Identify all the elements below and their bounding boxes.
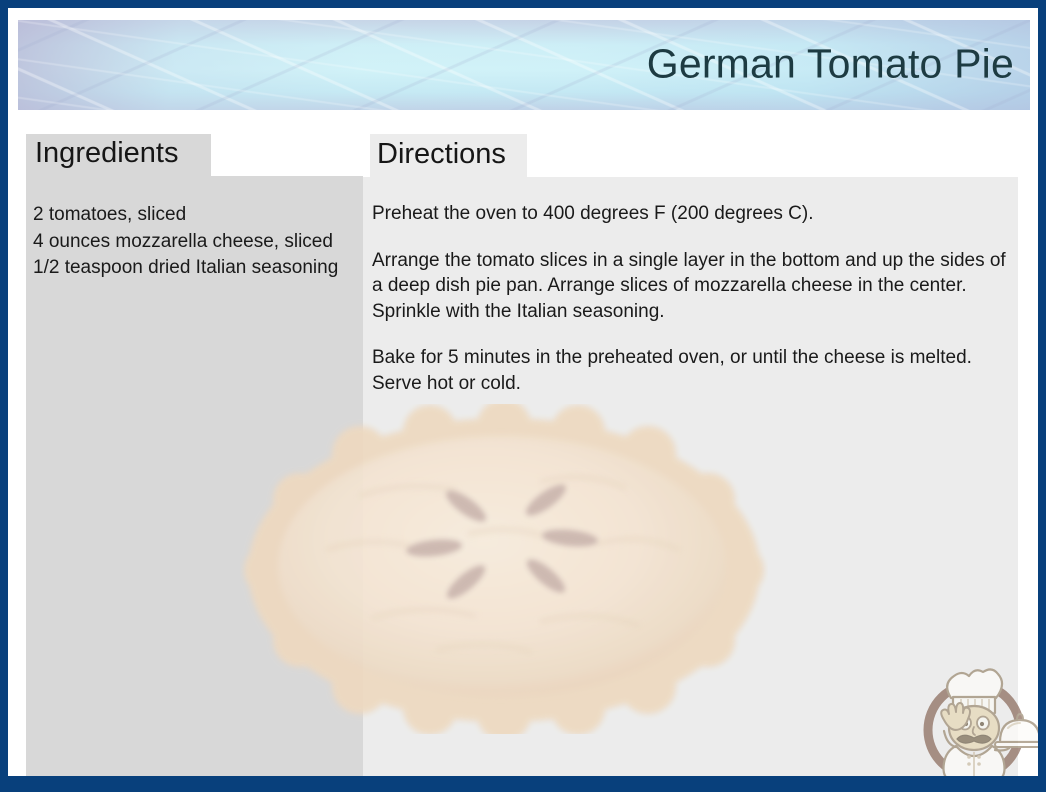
recipe-page: German Tomato Pie Ingredients 2 tomatoes… bbox=[8, 8, 1038, 776]
list-item: 2 tomatoes, sliced bbox=[33, 202, 353, 229]
header-banner: German Tomato Pie bbox=[18, 20, 1030, 110]
page-title: German Tomato Pie bbox=[647, 41, 1014, 88]
ingredients-list: 2 tomatoes, sliced 4 ounces mozzarella c… bbox=[33, 202, 353, 282]
ingredients-panel: 2 tomatoes, sliced 4 ounces mozzarella c… bbox=[26, 176, 363, 776]
list-item: 1/2 teaspoon dried Italian seasoning bbox=[33, 255, 353, 282]
ingredients-heading: Ingredients bbox=[35, 137, 179, 170]
direction-step: Preheat the oven to 400 degrees F (200 d… bbox=[372, 201, 1017, 227]
directions-body: Preheat the oven to 400 degrees F (200 d… bbox=[372, 201, 1017, 396]
direction-step: Bake for 5 minutes in the preheated oven… bbox=[372, 345, 1017, 396]
ingredients-section-tab: Ingredients bbox=[26, 134, 211, 176]
directions-section-tab: Directions bbox=[370, 134, 527, 177]
recipe-card: German Tomato Pie Ingredients 2 tomatoes… bbox=[0, 0, 1046, 792]
direction-step: Arrange the tomato slices in a single la… bbox=[372, 248, 1017, 325]
directions-panel: Preheat the oven to 400 degrees F (200 d… bbox=[363, 177, 1018, 776]
directions-heading: Directions bbox=[377, 138, 506, 171]
list-item: 4 ounces mozzarella cheese, sliced bbox=[33, 229, 353, 256]
